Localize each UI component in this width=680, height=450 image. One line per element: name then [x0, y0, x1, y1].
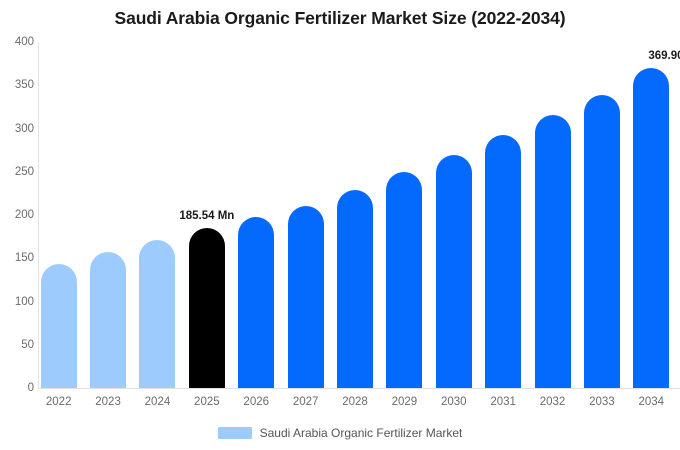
bar-2028[interactable]: [337, 190, 373, 388]
bar-group[interactable]: [337, 42, 373, 388]
bar-group[interactable]: [436, 42, 472, 388]
bar-2026[interactable]: [238, 217, 274, 388]
bar-2032[interactable]: [535, 115, 571, 388]
x-axis-line: [38, 388, 680, 389]
bar-2027[interactable]: [288, 206, 324, 389]
y-axis-tick-label: 300: [0, 123, 34, 135]
x-axis-tick-label: 2034: [621, 396, 680, 408]
bar-group[interactable]: [386, 42, 422, 388]
y-axis-tick-label: 200: [0, 209, 34, 221]
bar-group[interactable]: [584, 42, 620, 388]
bar-2024[interactable]: [139, 240, 175, 388]
bar-2033[interactable]: [584, 95, 620, 388]
plot-area: 185.54 Mn369.90 Mn: [38, 42, 680, 388]
y-axis-tick-label: 50: [0, 339, 34, 351]
y-axis-tick-label: 150: [0, 252, 34, 264]
bar-2023[interactable]: [90, 252, 126, 388]
y-axis: 400350300250200150100500: [0, 0, 34, 450]
y-axis-tick-label: 0: [0, 382, 34, 394]
bar-2029[interactable]: [386, 172, 422, 388]
chart-container: Saudi Arabia Organic Fertilizer Market S…: [0, 0, 680, 450]
bar-value-label: 369.90 Mn: [648, 50, 680, 62]
bar-group[interactable]: [535, 42, 571, 388]
bar-2025[interactable]: [189, 228, 225, 388]
y-axis-tick-label: 350: [0, 79, 34, 91]
bar-group[interactable]: [288, 42, 324, 388]
y-axis-tick-label: 250: [0, 166, 34, 178]
bar-2022[interactable]: [41, 264, 77, 388]
bar-2034[interactable]: [633, 68, 669, 388]
chart-title: Saudi Arabia Organic Fertilizer Market S…: [0, 8, 680, 29]
bar-group[interactable]: [238, 42, 274, 388]
bar-group[interactable]: 185.54 Mn: [189, 42, 225, 388]
bar-2031[interactable]: [485, 135, 521, 388]
y-axis-tick-label: 400: [0, 36, 34, 48]
y-axis-tick-label: 100: [0, 296, 34, 308]
bar-group[interactable]: [485, 42, 521, 388]
bar-group[interactable]: [90, 42, 126, 388]
legend-label[interactable]: Saudi Arabia Organic Fertilizer Market: [260, 426, 463, 440]
chart-legend: Saudi Arabia Organic Fertilizer Market: [0, 426, 680, 440]
bar-value-label: 185.54 Mn: [179, 210, 234, 222]
bar-group[interactable]: [139, 42, 175, 388]
bar-2030[interactable]: [436, 155, 472, 388]
bar-group[interactable]: [41, 42, 77, 388]
bar-group[interactable]: 369.90 Mn: [633, 42, 669, 388]
legend-swatch: [218, 427, 252, 439]
